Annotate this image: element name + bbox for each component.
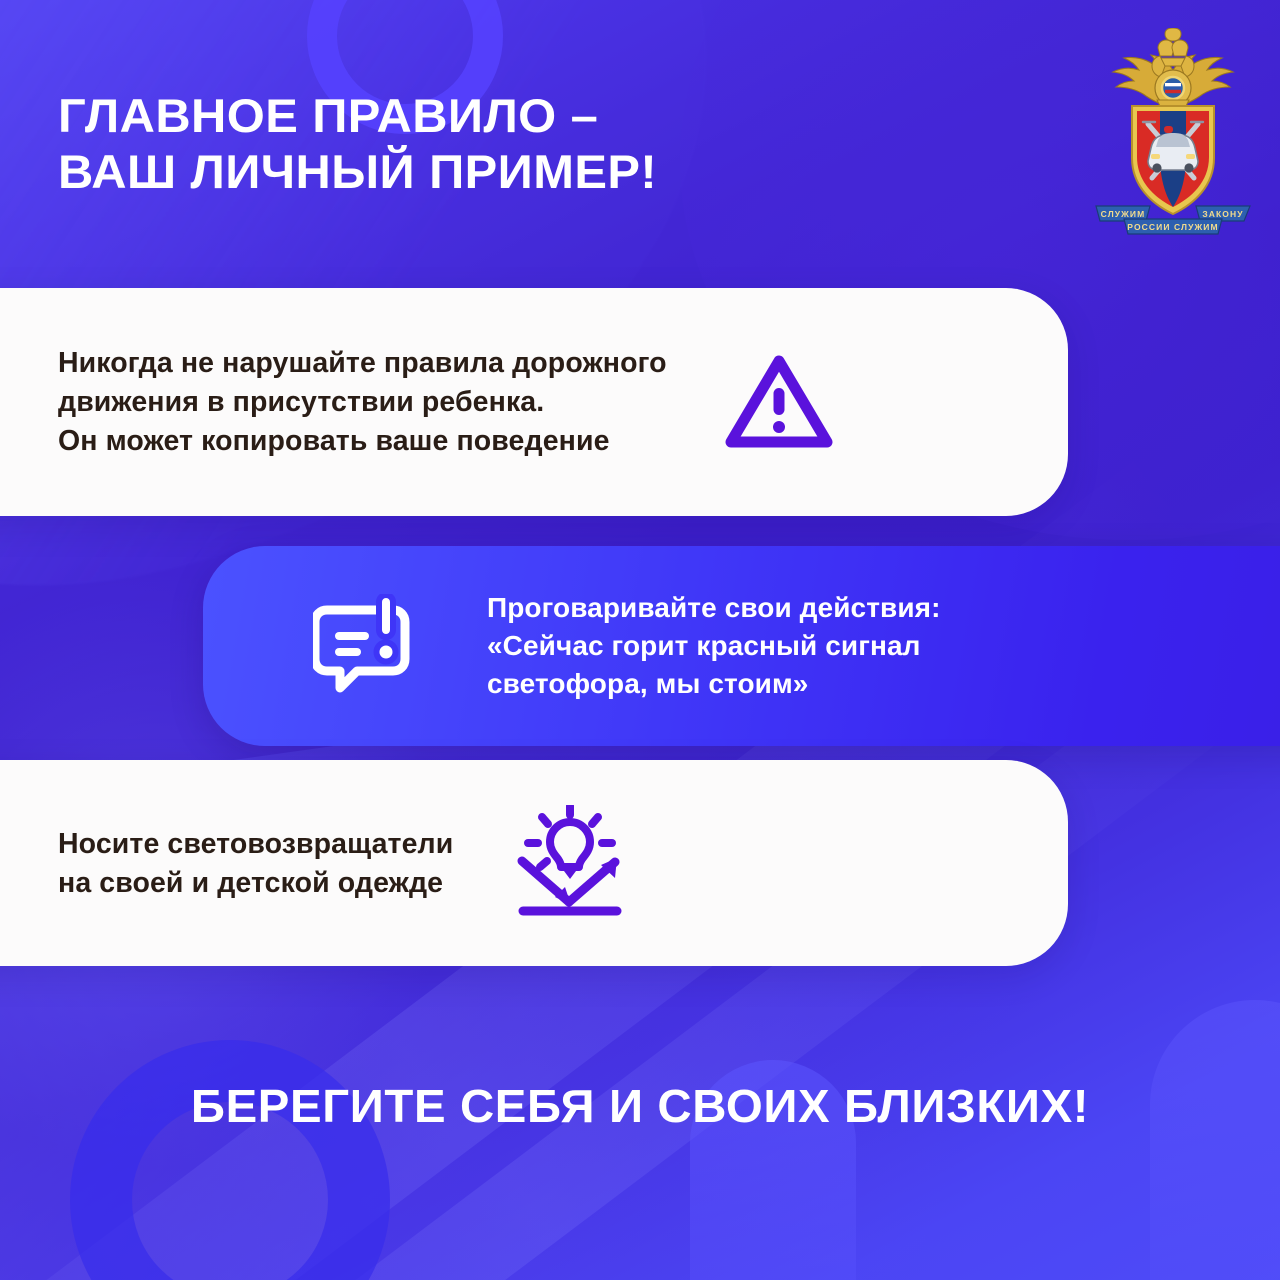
card-reflectors: Носите световозвращатели на своей и детс… <box>0 760 1068 966</box>
reflective-light-icon <box>509 805 631 921</box>
gibdd-emblem-icon: СЛУЖИМ ЗАКОНУ РОССИИ СЛУЖИМ <box>1088 28 1258 243</box>
background-pill-shape-right <box>1150 1000 1280 1280</box>
ribbon-center-text: РОССИИ СЛУЖИМ <box>1127 222 1218 232</box>
card-rules-text: Никогда не нарушайте правила дорожного д… <box>58 344 667 461</box>
footer: БЕРЕГИТЕ СЕБЯ И СВОИХ БЛИЗКИХ! <box>0 1078 1280 1134</box>
footer-text: БЕРЕГИТЕ СЕБЯ И СВОИХ БЛИЗКИХ! <box>191 1078 1089 1134</box>
card-rules: Никогда не нарушайте правила дорожного д… <box>0 288 1068 516</box>
card-speak-text: Проговаривайте свои действия: «Сейчас го… <box>487 589 941 703</box>
page-title: ГЛАВНОЕ ПРАВИЛО – ВАШ ЛИЧНЫЙ ПРИМЕР! <box>58 88 898 200</box>
ribbon-right-text: ЗАКОНУ <box>1202 209 1243 219</box>
speech-bubble-alert-icon <box>313 594 425 698</box>
safety-poster: ГЛАВНОЕ ПРАВИЛО – ВАШ ЛИЧНЫЙ ПРИМЕР! <box>0 0 1280 1280</box>
warning-triangle-icon <box>719 347 839 457</box>
card-reflectors-text: Носите световозвращатели на своей и детс… <box>58 825 453 903</box>
background-ring-bottom-left <box>70 1040 390 1280</box>
title-line-1: ГЛАВНОЕ ПРАВИЛО – <box>58 88 932 144</box>
ribbon-left-text: СЛУЖИМ <box>1101 209 1146 219</box>
card-speak: Проговаривайте свои действия: «Сейчас го… <box>203 546 1280 746</box>
title-line-2: ВАШ ЛИЧНЫЙ ПРИМЕР! <box>58 144 932 200</box>
